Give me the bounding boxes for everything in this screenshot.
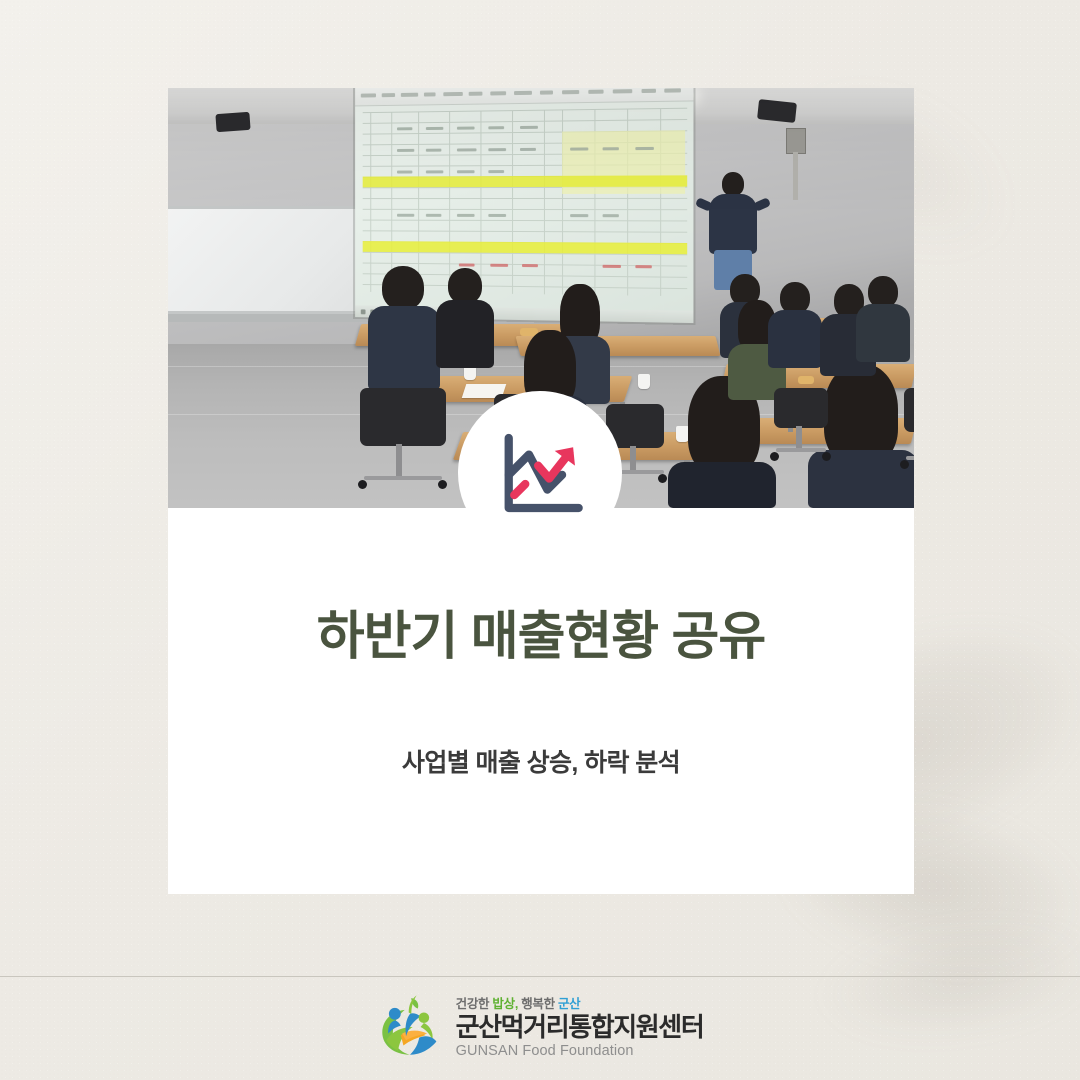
- tagline-highlight-1: 밥상,: [492, 997, 518, 1011]
- chart-icon-badge: [458, 391, 622, 555]
- organization-name-en: GUNSAN Food Foundation: [456, 1043, 634, 1060]
- poster-canvas: 하반기 매출현황 공유 사업별 매출 상승, 하락 분석 건강한 밥상, 행복한: [0, 0, 1080, 1080]
- photo-screen-toolbar: [355, 88, 693, 106]
- page-title: 하반기 매출현황 공유: [168, 594, 914, 669]
- tagline-word-2: 행복한: [521, 997, 555, 1011]
- photo-cup: [638, 374, 650, 389]
- gunsan-food-foundation-logo-icon: [377, 994, 443, 1064]
- photo-wall-box: [786, 128, 806, 154]
- footer-branding: 건강한 밥상, 행복한 군산 군산먹거리통합지원센터 GUNSAN Food F…: [0, 984, 1080, 1074]
- footer-divider: [0, 976, 1080, 977]
- content-card: 하반기 매출현황 공유 사업별 매출 상승, 하락 분석: [168, 88, 914, 894]
- page-subtitle: 사업별 매출 상승, 하락 분석: [168, 743, 914, 779]
- logo-text-block: 건강한 밥상, 행복한 군산 군산먹거리통합지원센터 GUNSAN Food F…: [456, 998, 704, 1060]
- tagline-highlight-2: 군산: [558, 997, 580, 1011]
- photo-speaker-right: [757, 99, 797, 123]
- tagline-word-1: 건강한: [456, 997, 490, 1011]
- chart-growth-arrow-icon: [494, 427, 586, 519]
- photo-snack: [798, 376, 814, 384]
- photo-cup: [464, 366, 476, 380]
- organization-name-ko: 군산먹거리통합지원센터: [456, 1013, 704, 1042]
- logo-tagline: 건강한 밥상, 행복한 군산: [456, 998, 581, 1012]
- photo-speaker-left: [215, 112, 250, 132]
- photo-wall-conduit: [793, 152, 798, 200]
